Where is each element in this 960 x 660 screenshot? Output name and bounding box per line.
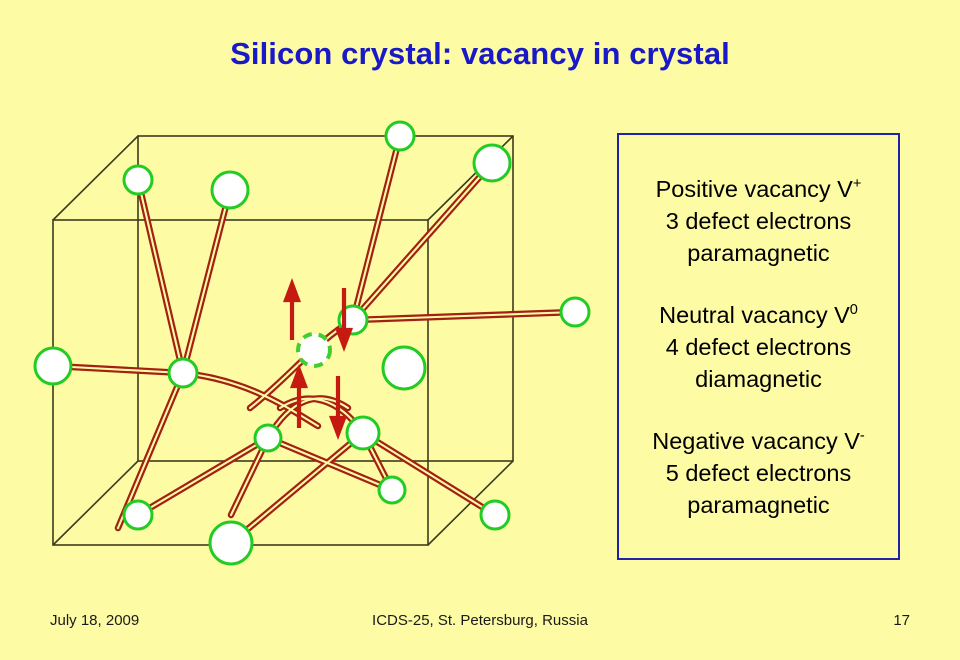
silicon-atom bbox=[561, 298, 589, 326]
positive-vacancy-magnetism: paramagnetic bbox=[656, 237, 862, 269]
silicon-atom bbox=[255, 425, 281, 451]
silicon-atom bbox=[383, 347, 425, 389]
silicon-atom bbox=[481, 501, 509, 529]
silicon-atom bbox=[212, 172, 248, 208]
vacancy-info-box: Positive vacancy V+ 3 defect electrons p… bbox=[617, 133, 900, 560]
info-group-neutral-vacancy: Neutral vacancy V0 4 defect electrons di… bbox=[659, 299, 858, 395]
silicon-atom bbox=[379, 477, 405, 503]
vacancy-site bbox=[298, 334, 330, 366]
slide-footer: July 18, 2009 ICDS-25, St. Petersburg, R… bbox=[0, 612, 960, 640]
positive-vacancy-electrons: 3 defect electrons bbox=[656, 205, 862, 237]
footer-page-number: 17 bbox=[893, 612, 910, 629]
neutral-vacancy-magnetism: diamagnetic bbox=[659, 363, 858, 395]
silicon-atom bbox=[210, 522, 252, 564]
silicon-atom bbox=[124, 166, 152, 194]
slide: Silicon crystal: vacancy in crystal bbox=[0, 0, 960, 660]
positive-vacancy-heading: Positive vacancy V+ bbox=[656, 173, 862, 205]
charge-superscript: 0 bbox=[850, 302, 858, 318]
neutral-vacancy-electrons: 4 defect electrons bbox=[659, 331, 858, 363]
negative-vacancy-heading: Negative vacancy V- bbox=[652, 425, 865, 457]
page-title: Silicon crystal: vacancy in crystal bbox=[0, 36, 960, 72]
silicon-atom bbox=[386, 122, 414, 150]
negative-vacancy-magnetism: paramagnetic bbox=[652, 489, 865, 521]
charge-superscript: + bbox=[853, 176, 862, 192]
silicon-atom bbox=[474, 145, 510, 181]
info-group-positive-vacancy: Positive vacancy V+ 3 defect electrons p… bbox=[656, 173, 862, 269]
silicon-crystal-diagram bbox=[18, 108, 618, 578]
neutral-vacancy-heading: Neutral vacancy V0 bbox=[659, 299, 858, 331]
silicon-atom bbox=[347, 417, 379, 449]
footer-event: ICDS-25, St. Petersburg, Russia bbox=[0, 612, 960, 629]
silicon-atom bbox=[169, 359, 197, 387]
spin-up-arrow bbox=[286, 284, 298, 340]
negative-vacancy-electrons: 5 defect electrons bbox=[652, 457, 865, 489]
silicon-atom bbox=[35, 348, 71, 384]
silicon-atom bbox=[124, 501, 152, 529]
info-group-negative-vacancy: Negative vacancy V- 5 defect electrons p… bbox=[652, 425, 865, 521]
charge-superscript: - bbox=[860, 428, 865, 444]
